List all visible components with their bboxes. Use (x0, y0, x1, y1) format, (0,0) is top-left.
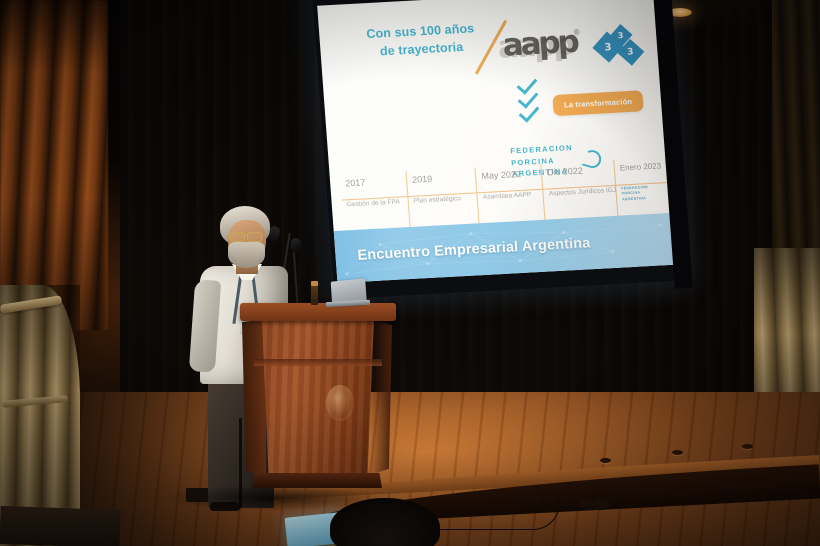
water-bottle (311, 285, 318, 305)
podium-shelf (254, 359, 382, 366)
floor-port-icon (742, 444, 753, 449)
timeline-year: May 2022 (481, 168, 539, 181)
projection-screen: Con sus 100 años de trayectoria aapp aap… (312, 0, 686, 299)
timeline-fpa-mini-logo: FEDERACION PORCINA ARGENTINA (621, 185, 649, 203)
screen-frame: Con sus 100 años de trayectoria aapp aap… (312, 0, 686, 299)
podium-base (252, 473, 382, 488)
timeline-item: May 2022 Asamblea AAPP (475, 164, 545, 223)
aapp-registered-mark: ® (573, 28, 580, 37)
podium (248, 303, 388, 488)
timeline-label: Asamblea AAPP (483, 191, 532, 201)
floor-port-icon (600, 458, 611, 463)
auditorium-photo: Con sus 100 años de trayectoria aapp aap… (0, 0, 820, 546)
slide-body: Con sus 100 años de trayectoria aapp aap… (317, 0, 679, 231)
podium-crest-emblem (326, 385, 354, 421)
diamond-label-3: 3 (627, 47, 634, 57)
glasses-lens-left (230, 232, 245, 242)
right-upper-drape (772, 0, 820, 260)
timeline-label: Aspectos Jurídicos IGJ (549, 187, 617, 198)
floor-port-icon (672, 450, 683, 455)
transformation-pill-label: La transformación (552, 90, 643, 116)
timeline-year: 2017 (345, 175, 404, 188)
timeline-label: Plan estratégico (413, 195, 461, 205)
timeline-item: Enero 2023 FEDERACION PORCINA ARGENTINA (613, 157, 673, 216)
left-stage-curtain (0, 0, 108, 330)
glasses-icon (230, 232, 266, 240)
stage-cable (556, 492, 620, 510)
glasses-lens-right (247, 232, 262, 242)
foreground-table (0, 506, 121, 546)
timeline-year: 2019 (412, 172, 473, 185)
timeline-year: Enero 2023 (619, 161, 667, 173)
aapp-logo-crossed-out: aapp aapp ® (495, 20, 606, 74)
podium-wood-grain (262, 319, 374, 479)
diamond-label-2: 3 (618, 31, 624, 40)
timeline-item: Dic 2022 Aspectos Jurídicos IGJ (541, 160, 618, 220)
diamond-label-1: 3 (604, 41, 612, 52)
timeline-item: 2019 Plan estratégico (406, 167, 479, 227)
diamond-logo: 3 3 3 (596, 28, 651, 77)
timeline-year: Dic 2022 (547, 164, 611, 177)
timeline-label: Gestión de la FPA (347, 199, 400, 209)
podium-left-side (242, 319, 266, 477)
podium-top-surface (240, 303, 396, 321)
speaker-beard (228, 242, 265, 268)
slide-headline: Con sus 100 años de trayectoria (345, 18, 497, 62)
mini-logo-line-3: ARGENTINA (622, 196, 649, 203)
bottle-cap (311, 281, 318, 286)
presentation-slide: Con sus 100 años de trayectoria aapp aap… (317, 0, 683, 283)
timeline-item: 2017 Gestión de la FPA (340, 171, 410, 230)
chevron-down-icon-group (513, 78, 542, 121)
aapp-logo-text: aapp (501, 24, 578, 64)
podium-right-side (370, 319, 392, 475)
floor-equipment-box (186, 488, 208, 502)
